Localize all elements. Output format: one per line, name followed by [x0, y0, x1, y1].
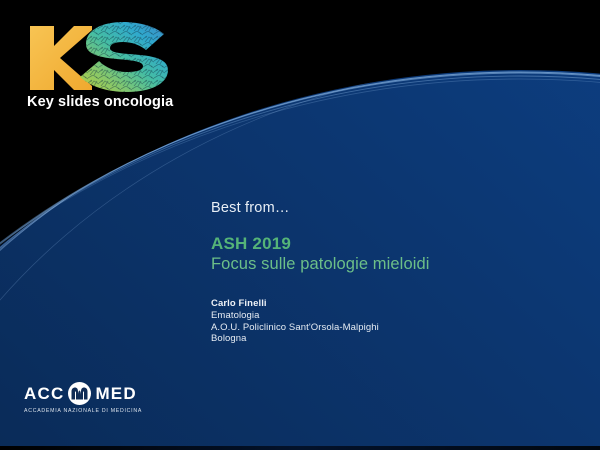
accmed-word-left: ACC: [24, 385, 64, 402]
bottom-band: [0, 446, 600, 450]
accmed-logo: ACC MED ACCADEMIA NAZIONALE DI MEDICINA: [24, 381, 174, 423]
accmed-wordmark-row: ACC MED: [24, 381, 174, 405]
title-block: Best from… ASH 2019 Focus sulle patologi…: [211, 200, 551, 275]
author-name: Carlo Finelli: [211, 298, 551, 310]
accmed-tagline: ACCADEMIA NAZIONALE DI MEDICINA: [24, 408, 174, 415]
ks-letter-k: [30, 26, 92, 90]
ks-monogram-icon: [22, 20, 182, 92]
author-department: Ematologia: [211, 310, 551, 322]
accmed-word-right: MED: [95, 385, 136, 402]
author-city: Bologna: [211, 333, 551, 345]
event-title: ASH 2019: [211, 234, 551, 254]
event-subtitle: Focus sulle patologie mieloidi: [211, 254, 551, 275]
author-institution: A.O.U. Policlinico Sant'Orsola-Malpighi: [211, 322, 551, 334]
ks-wordmark: Key slides oncologia: [27, 94, 173, 110]
ks-logo: Key slides oncologia: [22, 20, 187, 120]
accmed-badge-icon: [68, 382, 91, 405]
author-block: Carlo Finelli Ematologia A.O.U. Policlin…: [211, 298, 551, 345]
accmed-double-m-icon: [71, 387, 88, 400]
presentation-slide: Key slides oncologia Best from… ASH 2019…: [0, 0, 600, 450]
eyebrow-text: Best from…: [211, 200, 551, 217]
ks-letter-s: [80, 22, 168, 92]
ks-monogram-mark: [22, 20, 182, 92]
